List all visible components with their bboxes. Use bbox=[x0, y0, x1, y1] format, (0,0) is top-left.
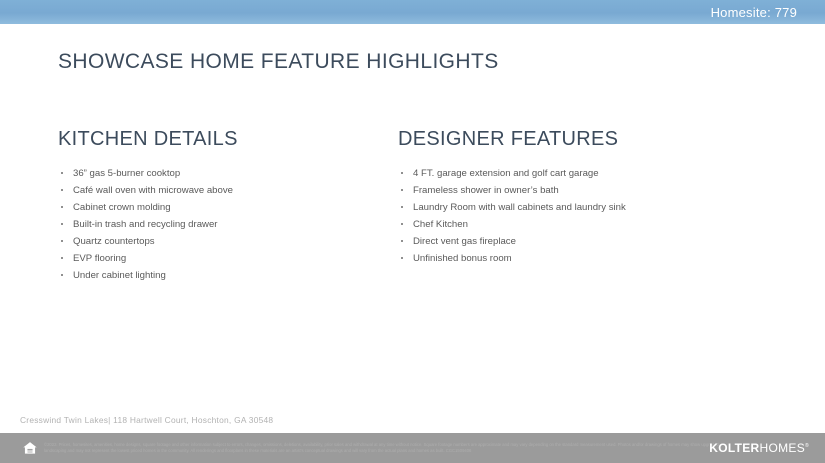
list-item: Chef Kitchen bbox=[398, 216, 738, 233]
designer-features-heading: DESIGNER FEATURES bbox=[398, 128, 738, 151]
bullet-dot-icon bbox=[401, 257, 403, 259]
page-title: SHOWCASE HOME FEATURE HIGHLIGHTS bbox=[58, 50, 499, 74]
list-item-label: Laundry Room with wall cabinets and laun… bbox=[413, 202, 626, 213]
bullet-dot-icon bbox=[61, 274, 63, 276]
bullet-dot-icon bbox=[61, 257, 63, 259]
list-item-label: Frameless shower in owner’s bath bbox=[413, 185, 559, 196]
list-item-label: 4 FT. garage extension and golf cart gar… bbox=[413, 168, 599, 179]
bullet-dot-icon bbox=[401, 172, 403, 174]
kitchen-details-heading: KITCHEN DETAILS bbox=[58, 128, 398, 151]
list-item: Laundry Room with wall cabinets and laun… bbox=[398, 199, 738, 216]
kitchen-details-column: KITCHEN DETAILS 36” gas 5-burner cooktop… bbox=[58, 128, 398, 284]
bullet-dot-icon bbox=[61, 206, 63, 208]
list-item: 36” gas 5-burner cooktop bbox=[58, 165, 398, 182]
list-item-label: EVP flooring bbox=[73, 253, 126, 264]
list-item-label: Direct vent gas fireplace bbox=[413, 236, 516, 247]
bullet-dot-icon bbox=[401, 223, 403, 225]
list-item: Direct vent gas fireplace bbox=[398, 233, 738, 250]
bullet-dot-icon bbox=[61, 240, 63, 242]
list-item: 4 FT. garage extension and golf cart gar… bbox=[398, 165, 738, 182]
list-item-label: Café wall oven with microwave above bbox=[73, 185, 233, 196]
list-item: Built-in trash and recycling drawer bbox=[58, 216, 398, 233]
list-item: Cabinet crown molding bbox=[58, 199, 398, 216]
bullet-dot-icon bbox=[61, 223, 63, 225]
community-address: Cresswind Twin Lakes| 118 Hartwell Court… bbox=[20, 415, 273, 425]
kitchen-details-list: 36” gas 5-burner cooktop Café wall oven … bbox=[58, 165, 398, 284]
registered-trademark-icon: ® bbox=[805, 443, 809, 449]
list-item-label: Under cabinet lighting bbox=[73, 270, 166, 281]
list-item-label: Quartz countertops bbox=[73, 236, 155, 247]
list-item-label: Cabinet crown molding bbox=[73, 202, 171, 213]
list-item-label: Built-in trash and recycling drawer bbox=[73, 219, 218, 230]
list-item: EVP flooring bbox=[58, 250, 398, 267]
bullet-dot-icon bbox=[401, 240, 403, 242]
brand-name-bold: KOLTER bbox=[709, 441, 759, 455]
equal-housing-opportunity-house-icon bbox=[22, 440, 38, 456]
top-header-band: Homesite: 779 bbox=[0, 0, 825, 24]
bullet-dot-icon bbox=[61, 172, 63, 174]
list-item-label: Unfinished bonus room bbox=[413, 253, 512, 264]
feature-columns: KITCHEN DETAILS 36” gas 5-burner cooktop… bbox=[0, 128, 825, 284]
list-item: Café wall oven with microwave above bbox=[58, 182, 398, 199]
list-item-label: 36” gas 5-burner cooktop bbox=[73, 168, 180, 179]
list-item: Unfinished bonus room bbox=[398, 250, 738, 267]
homesite-label: Homesite: 779 bbox=[711, 5, 825, 20]
bullet-dot-icon bbox=[401, 189, 403, 191]
footer-bar: ©2022. Prices, homesites, amenities, hom… bbox=[0, 433, 825, 463]
brand-name-light: HOMES bbox=[760, 441, 806, 455]
list-item: Frameless shower in owner’s bath bbox=[398, 182, 738, 199]
bullet-dot-icon bbox=[61, 189, 63, 191]
designer-features-column: DESIGNER FEATURES 4 FT. garage extension… bbox=[398, 128, 738, 284]
designer-features-list: 4 FT. garage extension and golf cart gar… bbox=[398, 165, 738, 267]
bullet-dot-icon bbox=[401, 206, 403, 208]
list-item: Under cabinet lighting bbox=[58, 267, 398, 284]
list-item: Quartz countertops bbox=[58, 233, 398, 250]
legal-disclaimer: ©2022. Prices, homesites, amenities, hom… bbox=[44, 442, 724, 453]
kolter-homes-logo: KOLTERHOMES® bbox=[709, 441, 809, 455]
list-item-label: Chef Kitchen bbox=[413, 219, 468, 230]
